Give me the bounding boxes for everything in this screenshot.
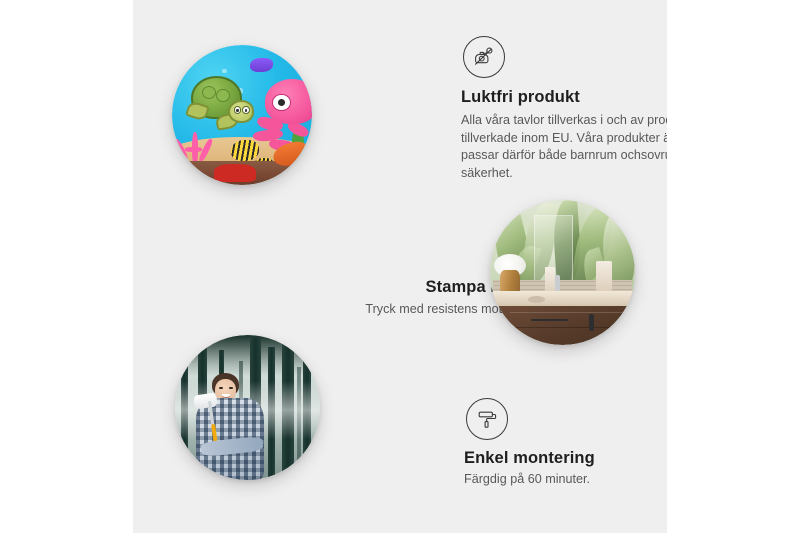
turtle-eye [234, 106, 242, 114]
soap-dish [528, 296, 545, 303]
no-fragrance-icon [463, 36, 505, 78]
feature-body: Alla våra tavlor tillverkas i och av pro… [461, 112, 667, 182]
woman-painter [192, 373, 273, 480]
woman-painter-forest-inner [175, 335, 320, 480]
drawer-handle [531, 319, 569, 321]
coral-icon [175, 126, 217, 165]
feature-odour-free: Luktfri produkt Alla våra tavlor tillver… [461, 36, 667, 182]
feature-title: Luktfri produkt [461, 88, 667, 107]
vanity-drawer [510, 312, 632, 328]
woman-eye [229, 387, 233, 390]
octopus-head [265, 79, 312, 124]
turtle-head [228, 100, 254, 123]
promo-page: Luktfri produkt Alla våra tavlor tillver… [0, 0, 800, 533]
bathroom-towel [545, 267, 555, 293]
yellow-fish-icon [231, 140, 259, 161]
octopus-eye [272, 94, 290, 111]
turtle-eye [242, 106, 250, 114]
sea-red-shape [214, 164, 256, 182]
feature-body: Färgdig på 60 minuter. [464, 471, 667, 489]
turtle-icon [187, 76, 251, 129]
bubble-icon [222, 69, 226, 73]
faucet-icon [555, 275, 559, 292]
bathroom-vanity-cabinet [499, 306, 635, 345]
feature-title: Enkel montering [464, 449, 667, 468]
woman-painter-forest-mural-image [175, 335, 320, 480]
purple-fish-icon [250, 58, 272, 72]
bathroom-leaf-wallpaper-inner [490, 200, 635, 345]
content-panel: Luktfri produkt Alla våra tavlor tillver… [133, 0, 667, 533]
cabinet-handle [589, 314, 595, 330]
feature-easy-mounting: Enkel montering Färgdig på 60 minuter. [464, 398, 667, 489]
kids-underwater-mural-inner [172, 45, 312, 185]
bathroom-leaf-wallpaper-image [490, 200, 635, 345]
paint-roller-icon [466, 398, 508, 440]
octopus-icon [253, 79, 312, 152]
cabinet-handle [620, 314, 626, 330]
kids-underwater-mural-image [172, 45, 312, 185]
